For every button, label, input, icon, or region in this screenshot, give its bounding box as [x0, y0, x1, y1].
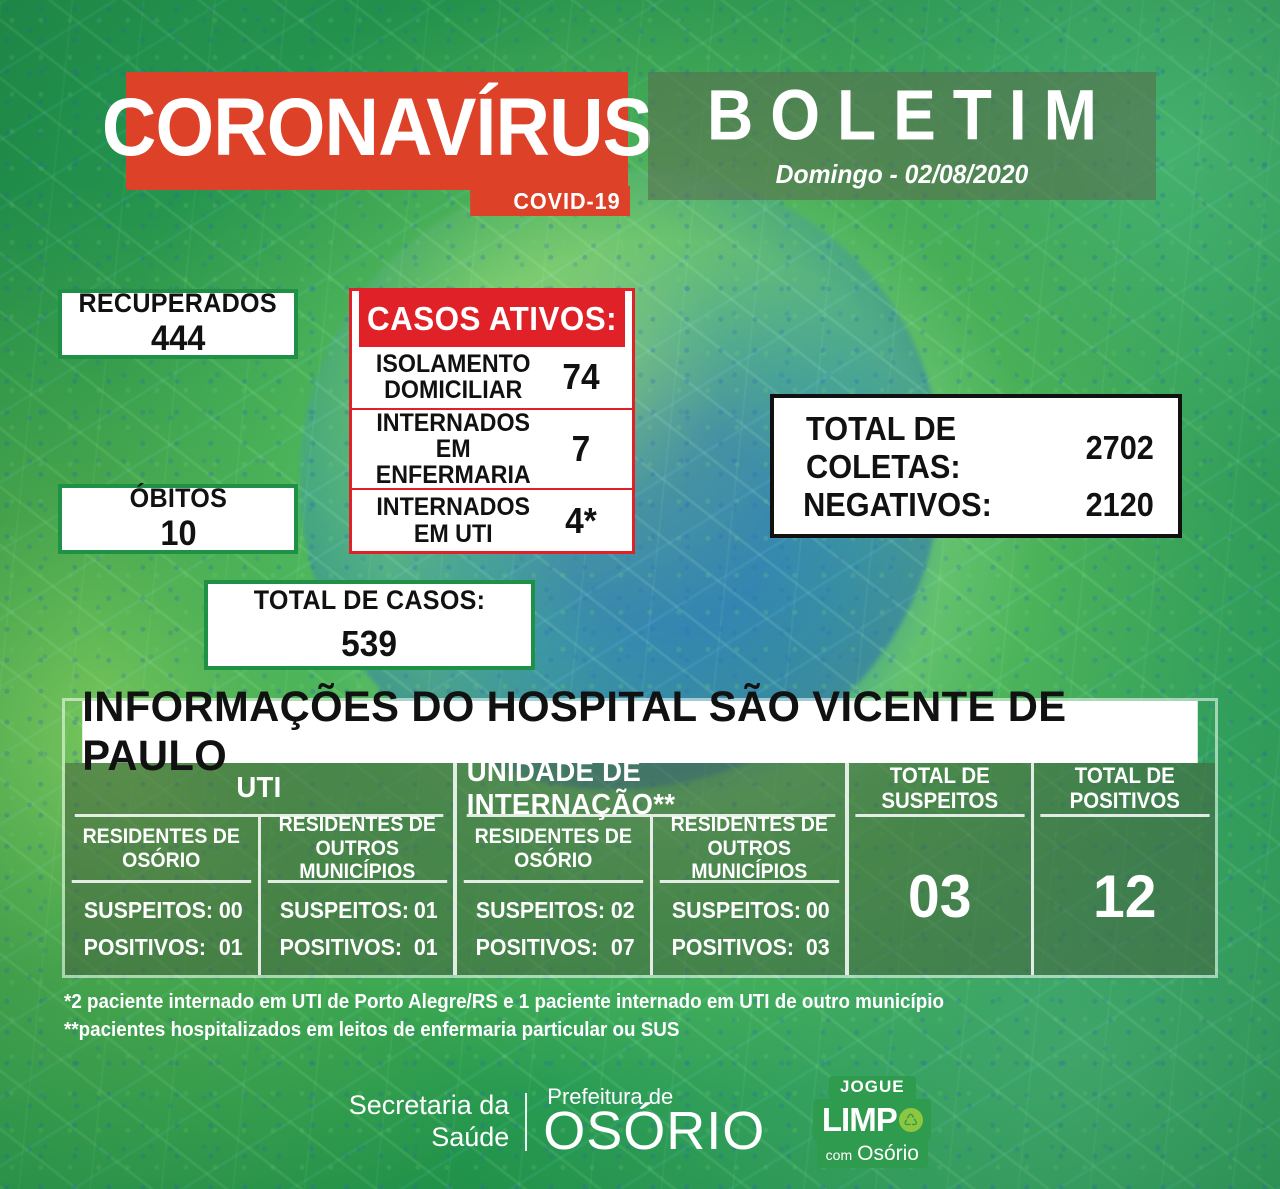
table-row: POSITIVOS: 01 — [79, 934, 244, 961]
recuperados-value: 444 — [151, 319, 205, 359]
obitos-box: ÓBITOS 10 — [58, 484, 298, 554]
casos-ativos-rows: ISOLAMENTO DOMICILIAR 74 INTERNADOS EM E… — [352, 347, 632, 551]
row-key: SUSPEITOS: — [84, 897, 213, 924]
row-value: 02 — [611, 897, 635, 924]
coletas-box: TOTAL DE COLETAS: 2702 NEGATIVOS: 2120 — [770, 394, 1182, 538]
internacao-residentes-outros-header: RESIDENTES DE OUTROS MUNICÍPIOS — [659, 817, 838, 883]
secretaria-saude-logo: Secretaria da Saúde — [349, 1090, 526, 1154]
row-value: 01 — [414, 897, 438, 924]
prefeitura-osorio-logo: Prefeitura de OSÓRIO — [527, 1086, 765, 1158]
limpo-mainrow: LIMP ♺ — [813, 1099, 931, 1141]
uti-residentes-osorio-body: SUSPEITOS: 00 POSITIVOS: 01 — [65, 883, 258, 975]
internacao-residentes-osorio-column: RESIDENTES DE OSÓRIO SUSPEITOS: 02 POSIT… — [457, 817, 650, 975]
casos-ativos-row: INTERNADOS EM ENFERMARIA 7 — [352, 408, 632, 489]
row-value: 00 — [806, 897, 830, 924]
internacao-residentes-outros-body: SUSPEITOS: 00 POSITIVOS: 03 — [653, 883, 846, 975]
secretaria-line-1: Secretaria da — [349, 1090, 510, 1122]
uti-residentes-outros-header: RESIDENTES DE OUTROS MUNICÍPIOS — [267, 817, 446, 883]
total-casos-value: 539 — [342, 623, 398, 664]
recuperados-label: RECUPERADOS — [79, 289, 277, 319]
table-row: POSITIVOS: 01 — [275, 934, 440, 961]
hospital-unit-internacao-columns: RESIDENTES DE OSÓRIO SUSPEITOS: 02 POSIT… — [457, 817, 845, 975]
table-row: SUSPEITOS: 02 — [471, 897, 636, 924]
hospital-unit-internacao: UNIDADE DE INTERNAÇÃO** RESIDENTES DE OS… — [457, 763, 845, 975]
table-row: POSITIVOS: 03 — [667, 934, 832, 961]
hospital-unit-uti-columns: RESIDENTES DE OSÓRIO SUSPEITOS: 00 POSIT… — [65, 817, 453, 975]
footnote-uti: *2 paciente internado em UTI de Porto Al… — [64, 988, 1004, 1016]
limpo-osorio-label: Osório — [857, 1142, 919, 1166]
internacao-residentes-osorio-body: SUSPEITOS: 02 POSITIVOS: 07 — [457, 883, 650, 975]
recycle-icon: ♺ — [899, 1108, 923, 1132]
footnote-enfermaria: **pacientes hospitalizados em leitos de … — [64, 1016, 1004, 1044]
row-key: SUSPEITOS: — [279, 897, 408, 924]
table-row: POSITIVOS: 07 — [471, 934, 636, 961]
recuperados-box: RECUPERADOS 444 — [58, 289, 298, 359]
hospital-totals: TOTAL DE SUSPEITOS 03 TOTAL DE POSITIVOS… — [849, 763, 1215, 975]
row-key: POSITIVOS: — [279, 934, 401, 961]
total-suspeitos-value: 03 — [854, 817, 1026, 975]
casos-ativos-row: INTERNADOS EM UTI 4* — [352, 488, 632, 551]
jogue-limpo-logo: JOGUE LIMP ♺ com Osório — [813, 1076, 931, 1168]
casos-ativos-row-label: INTERNADOS EM UTI — [374, 494, 538, 547]
limpo-wordmark: LIMP — [822, 1101, 897, 1139]
row-key: POSITIVOS: — [476, 934, 598, 961]
boletim-panel: BOLETIM Domingo - 02/08/2020 — [648, 72, 1156, 200]
row-value: 03 — [806, 934, 830, 961]
total-positivos-column: TOTAL DE POSITIVOS 12 — [1031, 763, 1216, 975]
hospital-info-section: INFORMAÇÕES DO HOSPITAL SÃO VICENTE DE P… — [62, 698, 1218, 978]
poster-footer: Secretaria da Saúde Prefeitura de OSÓRIO… — [0, 1072, 1280, 1172]
row-key: POSITIVOS: — [84, 934, 206, 961]
total-casos-label: TOTAL DE CASOS: — [254, 586, 486, 616]
uti-residentes-osorio-column: RESIDENTES DE OSÓRIO SUSPEITOS: 00 POSIT… — [65, 817, 258, 975]
casos-ativos-row-label: ISOLAMENTO DOMICILIAR — [374, 351, 538, 404]
uti-residentes-osorio-header: RESIDENTES DE OSÓRIO — [72, 817, 251, 883]
secretaria-line-2: Saúde — [349, 1122, 510, 1154]
hospital-title: INFORMAÇÕES DO HOSPITAL SÃO VICENTE DE P… — [82, 701, 1198, 763]
coronavirus-banner: CORONAVÍRUS — [126, 72, 628, 190]
internacao-residentes-osorio-header: RESIDENTES DE OSÓRIO — [464, 817, 643, 883]
casos-ativos-row-value: 4* — [547, 500, 616, 542]
limpo-bottomrow: com Osório — [817, 1141, 928, 1168]
total-casos-box: TOTAL DE CASOS: 539 — [204, 580, 535, 670]
total-positivos-header: TOTAL DE POSITIVOS — [1040, 763, 1209, 817]
hospital-unit-uti-header: UTI — [75, 763, 444, 817]
casos-ativos-title: CASOS ATIVOS: — [359, 291, 625, 347]
total-coletas-row: TOTAL DE COLETAS: 2702 — [796, 410, 1156, 486]
row-value: 07 — [611, 934, 635, 961]
row-value: 01 — [414, 934, 438, 961]
total-suspeitos-header: TOTAL DE SUSPEITOS — [855, 763, 1024, 817]
osorio-wordmark: OSÓRIO — [543, 1104, 765, 1158]
obitos-value: 10 — [160, 514, 196, 554]
negativos-value: 2120 — [1085, 486, 1153, 524]
coronavirus-wordmark: CORONAVÍRUS — [102, 87, 652, 175]
boletim-date: Domingo - 02/08/2020 — [776, 159, 1029, 190]
total-positivos-value: 12 — [1038, 817, 1210, 975]
table-row: SUSPEITOS: 01 — [275, 897, 440, 924]
hospital-unit-internacao-header: UNIDADE DE INTERNAÇÃO** — [467, 763, 836, 817]
casos-ativos-row-value: 74 — [547, 356, 616, 398]
footnotes: *2 paciente internado em UTI de Porto Al… — [64, 988, 1064, 1045]
casos-ativos-row-value: 7 — [547, 428, 616, 470]
row-value: 01 — [219, 934, 243, 961]
casos-ativos-row-label: INTERNADOS EM ENFERMARIA — [374, 410, 538, 489]
hospital-table: UTI RESIDENTES DE OSÓRIO SUSPEITOS: 00 P… — [65, 763, 1215, 975]
table-row: SUSPEITOS: 00 — [79, 897, 244, 924]
table-row: SUSPEITOS: 00 — [667, 897, 832, 924]
row-value: 00 — [219, 897, 243, 924]
boletim-title: BOLETIM — [690, 79, 1114, 151]
negativos-label: NEGATIVOS: — [803, 486, 992, 524]
poster-header: CORONAVÍRUS COVID-19 BOLETIM Domingo - 0… — [0, 0, 1280, 215]
row-key: SUSPEITOS: — [476, 897, 605, 924]
negativos-row: NEGATIVOS: 2120 — [796, 486, 1156, 524]
com-label: com — [826, 1147, 852, 1163]
jogue-label: JOGUE — [829, 1076, 916, 1099]
uti-residentes-outros-body: SUSPEITOS: 01 POSITIVOS: 01 — [261, 883, 454, 975]
obitos-label: ÓBITOS — [129, 484, 226, 514]
hospital-unit-uti: UTI RESIDENTES DE OSÓRIO SUSPEITOS: 00 P… — [65, 763, 453, 975]
row-key: SUSPEITOS: — [671, 897, 800, 924]
internacao-residentes-outros-column: RESIDENTES DE OUTROS MUNICÍPIOS SUSPEITO… — [650, 817, 846, 975]
casos-ativos-row: ISOLAMENTO DOMICILIAR 74 — [352, 347, 632, 408]
covid-bulletin-poster: CORONAVÍRUS COVID-19 BOLETIM Domingo - 0… — [0, 0, 1280, 1189]
total-coletas-value: 2702 — [1085, 429, 1153, 467]
uti-residentes-outros-column: RESIDENTES DE OUTROS MUNICÍPIOS SUSPEITO… — [258, 817, 454, 975]
casos-ativos-box: CASOS ATIVOS: ISOLAMENTO DOMICILIAR 74 I… — [349, 288, 635, 554]
row-key: POSITIVOS: — [671, 934, 793, 961]
covid19-tag: COVID-19 — [470, 186, 630, 216]
total-suspeitos-column: TOTAL DE SUSPEITOS 03 — [849, 763, 1031, 975]
total-coletas-label: TOTAL DE COLETAS: — [806, 410, 1073, 486]
